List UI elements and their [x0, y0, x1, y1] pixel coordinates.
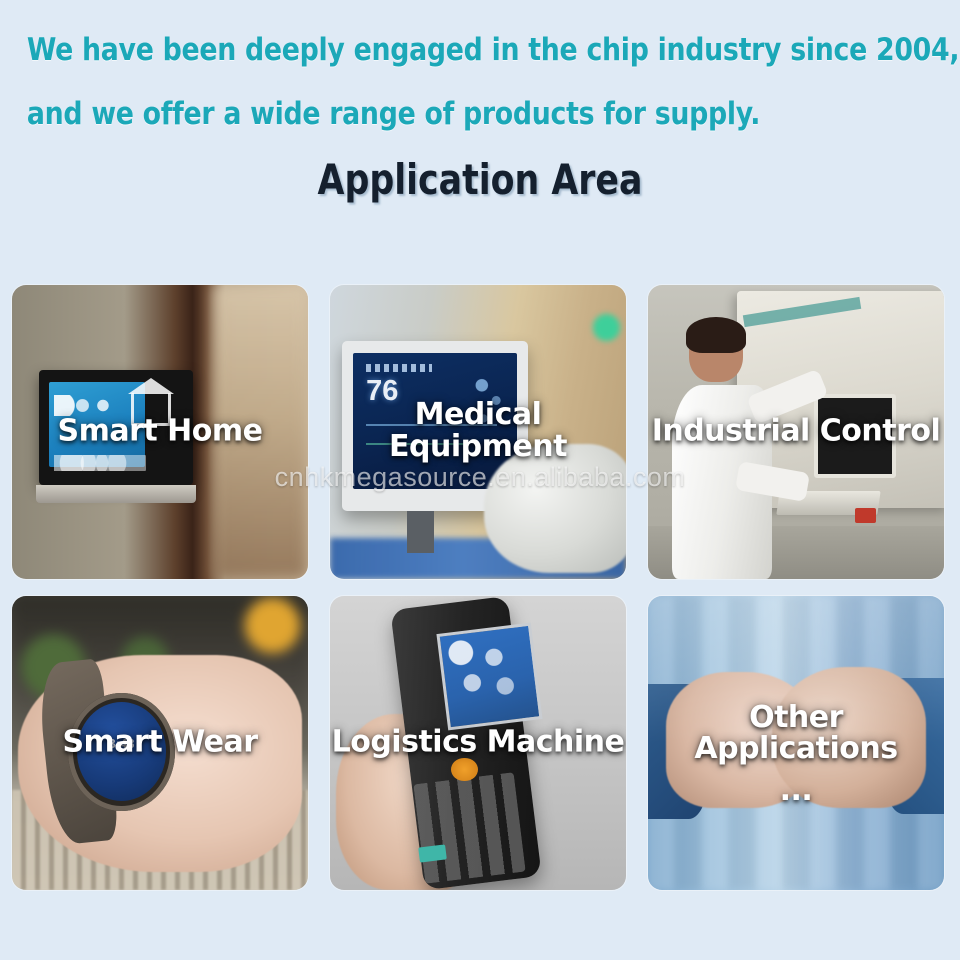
card-label: Other Applications ...: [648, 702, 944, 807]
application-card-smart-wear[interactable]: 3:43 Smart Wear: [12, 596, 308, 890]
application-card-logistics-machine[interactable]: Logistics Machine: [330, 596, 626, 890]
application-card-other-applications[interactable]: Other Applications ...: [648, 596, 944, 890]
card-label: Industrial Control: [648, 416, 944, 448]
promo-headline: We have been deeply engaged in the chip …: [0, 0, 960, 146]
application-card-industrial-control[interactable]: Industrial Control: [648, 285, 944, 579]
page-title: Application Area: [38, 155, 921, 204]
headline-line-1: We have been deeply engaged in the chip …: [0, 18, 922, 82]
card-label: Logistics Machine: [330, 727, 626, 759]
card-label: Medical Equipment: [330, 399, 626, 462]
card-label-ellipsis: ...: [648, 775, 944, 807]
card-label: Smart Wear: [12, 727, 308, 759]
card-label-line-2: Applications: [648, 733, 944, 765]
page-root: We have been deeply engaged in the chip …: [0, 0, 960, 960]
application-card-medical-equipment[interactable]: 76 Medical Equipment: [330, 285, 626, 579]
card-label-line-1: Other: [749, 700, 843, 735]
application-area-grid: Smart Home 76 M: [12, 285, 948, 890]
headline-line-2: and we offer a wide range of products fo…: [0, 82, 922, 146]
card-label: Smart Home: [12, 416, 308, 448]
application-card-smart-home[interactable]: Smart Home: [12, 285, 308, 579]
